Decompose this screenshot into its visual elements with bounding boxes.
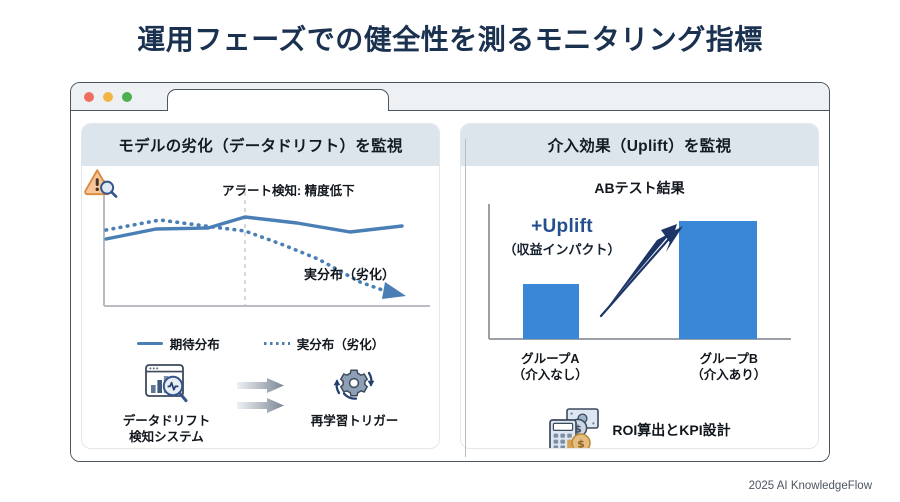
curve-annotation-label: 実分布（劣化） [304,264,395,283]
bar-xlabel-group-b: グループB （介入あり） [640,352,819,383]
browser-chrome-bar [71,83,829,111]
browser-tab[interactable] [167,89,389,112]
bar-chart-abtest: +Uplift （収益インパクト） [461,196,818,356]
bar-group-a [523,284,579,339]
panel-header-uplift-label: 介入効果（Uplift）を監視 [548,134,732,156]
bar-xlabel-group-a: グループA （介入なし） [461,352,640,383]
svg-text:$: $ [578,437,586,449]
window-control-dots [84,92,132,102]
panel-header-data-drift-label: モデルの劣化（データドリフト）を監視 [118,134,402,156]
bar-chart-svg [461,196,819,356]
legend-dotted-line-swatch [264,342,290,345]
legend-item-expected: 期待分布 [137,334,220,353]
panel-header-uplift: 介入効果（Uplift）を監視 [461,124,818,166]
page-title: 運用フェーズでの健全性を測るモニタリング指標 [0,18,900,58]
bar-chart-title: ABテスト結果 [461,178,818,198]
footer-credit: 2025 AI KnowledgeFlow [749,480,872,492]
panel-body-uplift: ABテスト結果 [461,166,818,448]
double-right-arrow-icon [232,362,290,413]
legend-label-actual: 実分布（劣化） [297,334,385,353]
alert-detection-label: アラート検知: 精度低下 [222,180,355,199]
panel-data-drift: モデルの劣化（データドリフト）を監視 [81,123,440,449]
flow-node-detection-system: データドリフト 検知システム [108,362,226,445]
bar-group-b [679,221,757,339]
line-chart-drift: アラート検知: 精度低下 実分布（劣化） [82,166,439,338]
slide-root: 運用フェーズでの健全性を測るモニタリング指標 モデルの劣化（データドリフト）を監… [0,0,900,502]
panel-header-data-drift: モデルの劣化（データドリフト）を監視 [82,124,439,166]
gear-refresh-icon [330,362,380,408]
panel-divider [465,139,466,457]
browser-content: モデルの劣化（データドリフト）を監視 [71,111,829,461]
roi-label: ROI算出とKPI設計 [612,420,730,440]
legend-label-expected: 期待分布 [170,334,220,353]
close-dot[interactable] [84,92,94,102]
arrow-right-1 [237,378,285,393]
panel-uplift: 介入効果（Uplift）を監視 ABテスト結果 [460,123,819,449]
drift-response-flow: データドリフト 検知システム [82,362,439,445]
flow-node-detection-system-label: データドリフト 検知システム [123,414,211,445]
chart-legend: 期待分布 実分布（劣化） [82,334,439,353]
maximize-dot[interactable] [122,92,132,102]
arrow-right-2 [237,398,285,413]
warning-magnifier-icon [82,166,120,198]
legend-solid-line-swatch [137,342,163,346]
flow-node-retrain-trigger: 再学習トリガー [296,362,414,430]
dashboard-magnifier-icon [142,362,192,408]
bar-chart-x-labels: グループA （介入なし） グループB （介入あり） [461,352,818,383]
calculator-money-icon: $ [548,406,602,449]
minimize-dot[interactable] [103,92,113,102]
panel-container: モデルの劣化（データドリフト）を監視 [71,111,829,461]
panel-body-data-drift: アラート検知: 精度低下 実分布（劣化） 期待分布 実分布（劣化） [82,166,439,448]
legend-item-actual: 実分布（劣化） [264,334,385,353]
roi-row: $ [461,406,818,449]
browser-window-mock: モデルの劣化（データドリフト）を監視 [70,82,830,462]
uplift-arrow-icon [601,224,683,316]
flow-node-retrain-trigger-label: 再学習トリガー [311,414,399,430]
series-actual-distribution-arrowhead [382,282,406,299]
